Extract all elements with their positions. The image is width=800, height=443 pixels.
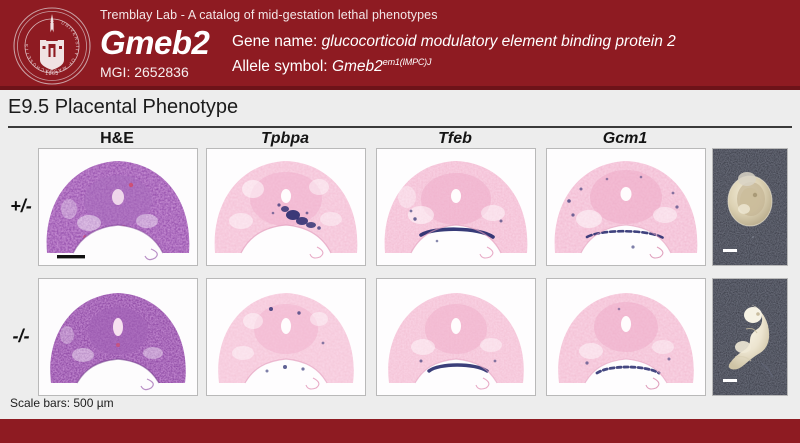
page-header: UNIVERSITY OF MASSACHUSETTS 1863 Trembla… bbox=[0, 0, 800, 90]
gene-symbol-title: Gmeb2 bbox=[100, 26, 209, 60]
gene-name-row: Gene name: glucocorticoid modulatory ele… bbox=[232, 33, 676, 51]
page-footer-band bbox=[0, 419, 800, 443]
allele-symbol-value: Gmeb2 bbox=[332, 58, 383, 75]
panel-gross-embryo-het[interactable] bbox=[712, 148, 788, 266]
page-title: E9.5 Placental Phenotype bbox=[8, 96, 238, 119]
row-label-hom: -/- bbox=[4, 326, 38, 347]
scale-bar bbox=[723, 379, 737, 382]
column-header-he: H&E bbox=[38, 130, 196, 148]
panel-gcm1-hom[interactable] bbox=[546, 278, 706, 396]
title-divider bbox=[8, 126, 792, 128]
panel-he-hom[interactable] bbox=[38, 278, 198, 396]
figure-body: E9.5 Placental Phenotype H&E Tpbpa Tfeb … bbox=[0, 94, 800, 419]
allele-symbol-row: Allele symbol: Gmeb2em1(IMPC)J bbox=[232, 57, 431, 76]
column-header-tfeb: Tfeb bbox=[376, 130, 534, 148]
panel-gross-embryo-hom[interactable] bbox=[712, 278, 788, 396]
row-label-het: +/- bbox=[4, 196, 38, 217]
gene-name-value: glucocorticoid modulatory element bindin… bbox=[322, 33, 676, 50]
scale-bar-note: Scale bars: 500 µm bbox=[10, 396, 114, 410]
figure-page: UNIVERSITY OF MASSACHUSETTS 1863 Trembla… bbox=[0, 0, 800, 443]
gene-name-label: Gene name: bbox=[232, 33, 317, 50]
panel-gcm1-het[interactable] bbox=[546, 148, 706, 266]
scale-bar bbox=[57, 255, 85, 258]
panel-tpbpa-het[interactable] bbox=[206, 148, 366, 266]
column-header-gcm1: Gcm1 bbox=[546, 130, 704, 148]
panel-he-het[interactable] bbox=[38, 148, 198, 266]
umass-seal-logo: UNIVERSITY OF MASSACHUSETTS 1863 bbox=[12, 6, 92, 86]
panel-tfeb-het[interactable] bbox=[376, 148, 536, 266]
panel-tpbpa-hom[interactable] bbox=[206, 278, 366, 396]
allele-superscript: em1(IMPC)J bbox=[383, 57, 432, 67]
scale-bar bbox=[723, 249, 737, 252]
lab-tagline: Tremblay Lab - A catalog of mid-gestatio… bbox=[100, 8, 438, 22]
svg-text:1863: 1863 bbox=[45, 71, 59, 77]
column-header-tpbpa: Tpbpa bbox=[206, 130, 364, 148]
allele-symbol-label: Allele symbol: bbox=[232, 58, 328, 75]
panel-tfeb-hom[interactable] bbox=[376, 278, 536, 396]
mgi-id-label: MGI: 2652836 bbox=[100, 64, 189, 80]
